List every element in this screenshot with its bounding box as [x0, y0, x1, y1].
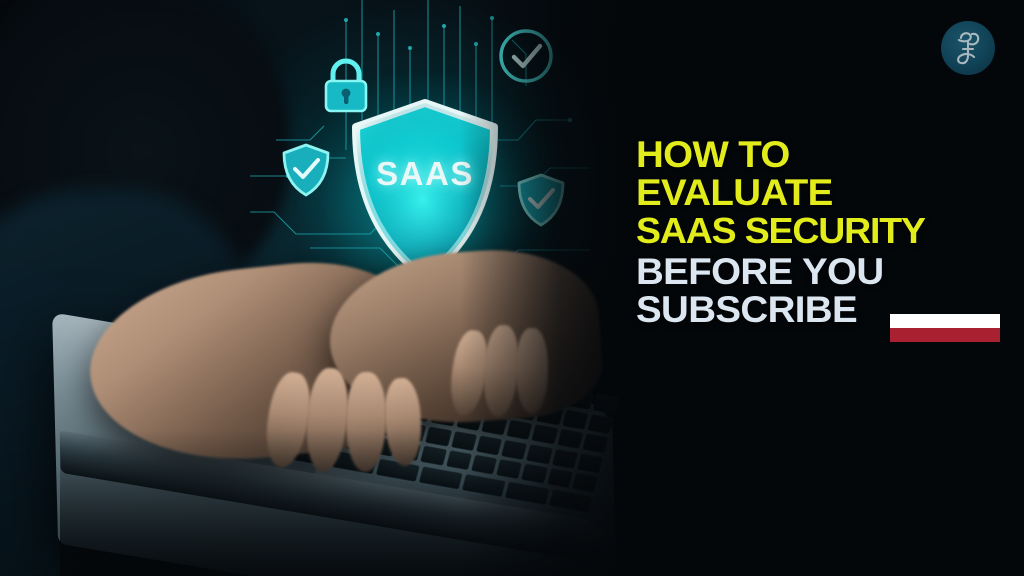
logo-g-mark-icon [941, 21, 995, 75]
hero-photo: SAAS [0, 0, 640, 576]
photo-edge-fade [460, 0, 640, 576]
shield-check-left-icon [281, 142, 331, 198]
banner-canvas: SAAS [0, 0, 1024, 576]
headline-line-2: EVALUATE [636, 174, 1023, 212]
flag-accent-bar [890, 314, 1000, 342]
padlock-icon [318, 56, 374, 116]
headline-line-4: BEFORE YOU [636, 253, 1023, 291]
headline-line-3: SAAS SECURITY [636, 212, 1023, 250]
flag-stripe-red [890, 328, 1000, 342]
brand-logo[interactable] [941, 21, 995, 75]
headline-line-1: HOW TO [636, 136, 1023, 174]
headline-block: HOW TO EVALUATE SAAS SECURITY BEFORE YOU… [636, 136, 1008, 329]
flag-stripe-white [890, 314, 1000, 328]
